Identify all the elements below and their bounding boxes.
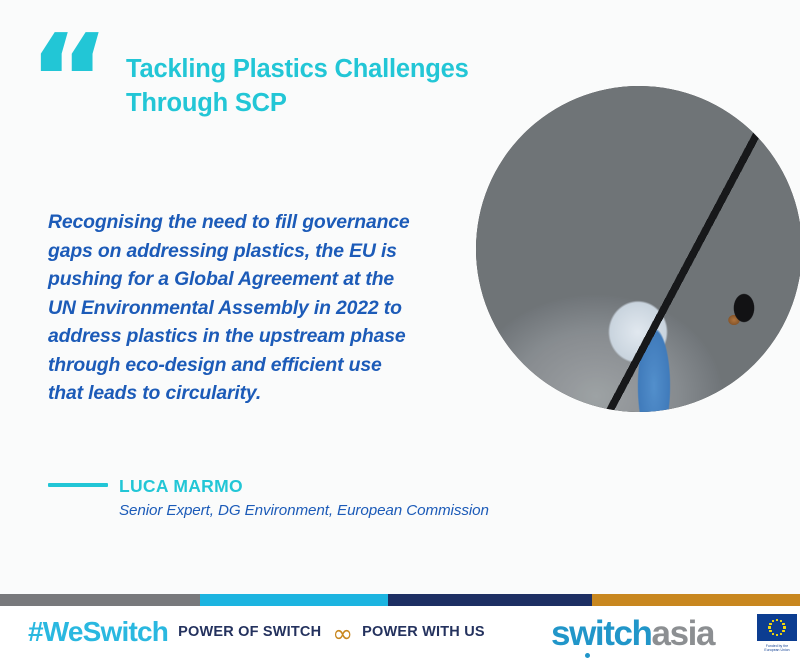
eu-star-icon <box>776 619 778 621</box>
eu-star-icon <box>782 623 784 625</box>
quote-text: Recognising the need to fill governance … <box>48 208 460 408</box>
logo-switch-label: switch <box>551 614 652 653</box>
eu-star-icon <box>782 630 784 632</box>
logo-switch-text: switch <box>551 616 652 651</box>
headline-line-1: Tackling Plastics Challenges <box>126 53 526 87</box>
attribution: LUCA MARMO Senior Expert, DG Environment… <box>119 476 549 521</box>
infinity-icon: ∞ <box>332 621 353 646</box>
eu-star-icon <box>783 626 785 628</box>
logo-asia-label: asia <box>652 616 715 651</box>
quote-line-1: Recognising the need to fill governance <box>48 208 460 237</box>
footer-bar-segment-navy <box>388 594 592 606</box>
switchasia-logo: switch asia <box>551 616 714 651</box>
tagline-left: POWER OF SWITCH <box>178 625 321 640</box>
footer: #WeSwitch POWER OF SWITCH ∞ POWER WITH U… <box>0 606 800 671</box>
eu-funding-block: Funded by the European Union <box>757 614 797 652</box>
attribution-rule <box>48 483 108 487</box>
speaker-portrait <box>476 86 800 412</box>
eu-star-icon <box>772 633 774 635</box>
quote-line-2: gaps on addressing plastics, the EU is <box>48 237 460 266</box>
eu-caption: Funded by the European Union <box>757 644 797 653</box>
eu-star-icon <box>776 634 778 636</box>
eu-star-icon <box>769 623 771 625</box>
footer-color-bar <box>0 594 800 606</box>
footer-bar-segment-orange <box>592 594 800 606</box>
eu-star-icon <box>768 626 770 628</box>
footer-bar-segment-grey <box>0 594 200 606</box>
eu-caption-line-2: European Union <box>757 648 797 652</box>
quote-line-4: UN Environmental Assembly in 2022 to <box>48 294 460 323</box>
eu-star-icon <box>772 620 774 622</box>
quote-line-5: address plastics in the upstream phase <box>48 322 460 351</box>
headline-line-2: Through SCP <box>126 87 526 121</box>
eu-star-icon <box>780 620 782 622</box>
speaker-role: Senior Expert, DG Environment, European … <box>119 500 549 521</box>
portrait-photo <box>476 86 800 412</box>
page-title: Tackling Plastics Challenges Through SCP <box>126 53 526 121</box>
footer-bar-segment-cyan <box>200 594 388 606</box>
eu-star-icon <box>780 633 782 635</box>
eu-flag-icon <box>757 614 797 641</box>
speaker-name: LUCA MARMO <box>119 476 549 498</box>
weswitch-hashtag: #WeSwitch <box>28 618 168 646</box>
quote-line-7: that leads to circularity. <box>48 379 460 408</box>
tagline-right: POWER WITH US <box>362 625 485 640</box>
quote-line-6: through eco-design and efficient use <box>48 351 460 380</box>
quote-line-3: pushing for a Global Agreement at the <box>48 265 460 294</box>
quote-mark-icon: “ <box>28 18 106 143</box>
logo-dot-icon <box>585 653 590 658</box>
quote-card: “ Tackling Plastics Challenges Through S… <box>0 0 800 671</box>
campaign-lockup: #WeSwitch POWER OF SWITCH ∞ POWER WITH U… <box>28 618 485 646</box>
